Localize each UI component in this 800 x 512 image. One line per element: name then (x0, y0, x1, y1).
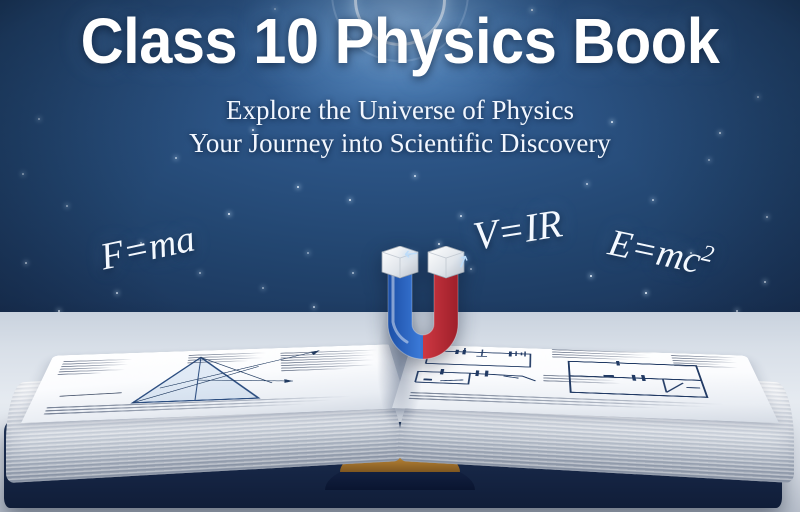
subtitle-line-1: Explore the Universe of Physics (0, 97, 800, 124)
page-left-text-block-a (57, 359, 136, 377)
page-title: Class 10 Physics Book (28, 9, 772, 73)
page-right-text-block-b (671, 355, 746, 370)
poster-canvas: Class 10 Physics Book Explore the Univer… (0, 0, 800, 512)
subtitle-line-2: Your Journey into Scientific Discovery (0, 130, 800, 157)
page-right-text-block-c (543, 375, 630, 386)
